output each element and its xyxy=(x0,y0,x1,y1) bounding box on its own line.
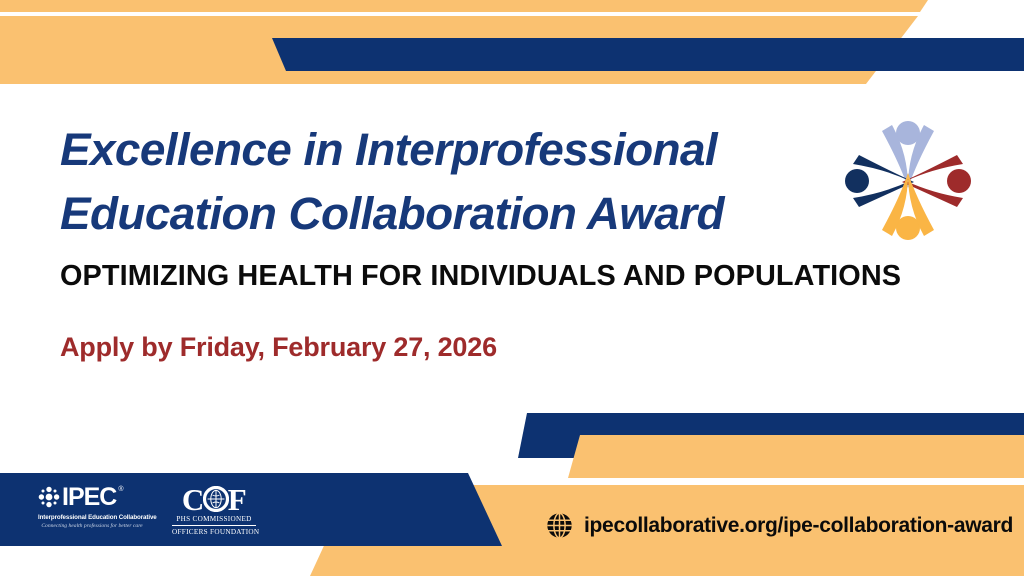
ipec-logo[interactable]: IPEC ® Interprofessional Education Colla… xyxy=(38,484,146,530)
cof-letter-c: C xyxy=(182,484,204,515)
top-gold-strip-2 xyxy=(0,16,918,84)
title-line-2: Education Collaboration Award xyxy=(60,182,856,246)
website-url: ipecollaborative.org/ipe-collaboration-a… xyxy=(584,513,1013,539)
cof-tagline-line-1: PHS COMMISSIONED xyxy=(172,514,256,526)
cof-letter-f: F xyxy=(228,484,246,515)
four-people-circle-logo xyxy=(838,116,978,244)
deadline-text: Apply by Friday, February 27, 2026 xyxy=(60,330,497,364)
website-url-row[interactable]: ipecollaborative.org/ipe-collaboration-a… xyxy=(546,512,1013,539)
top-navy-band xyxy=(272,38,1024,71)
top-gold-strip-1 xyxy=(0,0,928,12)
title-line-1: Excellence in Interprofessional xyxy=(60,118,856,182)
ipec-tagline: Interprofessional Education Collaborativ… xyxy=(38,513,146,522)
lower-gold-wedge-top xyxy=(568,435,1024,478)
organization-logos: IPEC ® Interprofessional Education Colla… xyxy=(38,484,256,537)
cof-logo[interactable]: C F PHS COMMISSIONED OFFICERS FOUNDATION xyxy=(172,484,256,537)
ipec-wordmark: IPEC xyxy=(62,485,116,510)
banner-canvas: Excellence in Interprofessional Educatio… xyxy=(0,0,1024,576)
ipec-subtagline: Connecting health professions for better… xyxy=(38,522,146,530)
lower-navy-band xyxy=(518,413,1024,458)
headline-block: Excellence in Interprofessional Educatio… xyxy=(60,118,840,246)
caduceus-globe-icon xyxy=(203,486,229,512)
globe-icon xyxy=(546,512,573,539)
cof-tagline-line-2: OFFICERS FOUNDATION xyxy=(172,527,256,537)
people-figure-top xyxy=(882,121,934,188)
plus-dots-icon xyxy=(38,486,60,508)
subtitle: OPTIMIZING HEALTH FOR INDIVIDUALS AND PO… xyxy=(60,259,901,293)
registered-trademark-icon: ® xyxy=(118,486,123,493)
